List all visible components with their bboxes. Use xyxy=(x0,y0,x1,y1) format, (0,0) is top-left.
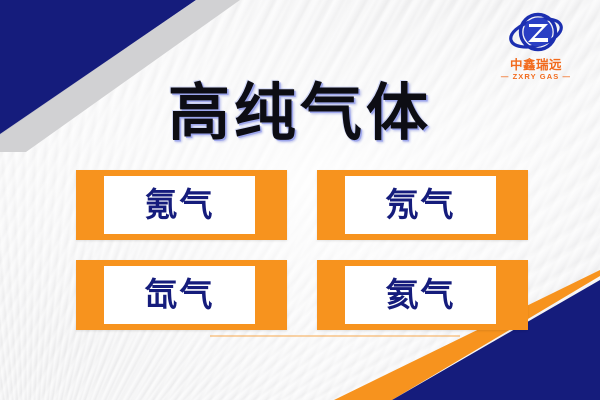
product-card-inner: 氪气 xyxy=(104,176,255,234)
product-card-inner: 氖气 xyxy=(345,176,496,234)
product-card-neon[interactable]: 氖气 xyxy=(317,170,528,240)
poster-canvas: 中鑫瑞远 — ZXRY GAS — 高纯气体 氪气 氖气 氙气 氦气 xyxy=(0,0,600,400)
z-circle-icon xyxy=(509,8,563,58)
product-label: 氙气 xyxy=(145,277,215,313)
product-grid: 氪气 氖气 氙气 氦气 xyxy=(76,170,528,330)
brand-logo: 中鑫瑞远 — ZXRY GAS — xyxy=(484,8,588,84)
product-label: 氖气 xyxy=(386,187,456,223)
product-card-inner: 氙气 xyxy=(104,266,255,324)
product-label: 氦气 xyxy=(386,277,456,313)
bottom-accent-line xyxy=(210,335,460,337)
page-title: 高纯气体 xyxy=(0,76,600,150)
product-card-helium[interactable]: 氦气 xyxy=(317,260,528,330)
product-card-inner: 氦气 xyxy=(345,266,496,324)
logo-company-name-cn: 中鑫瑞远 xyxy=(484,59,588,72)
product-label: 氪气 xyxy=(145,187,215,223)
product-card-xenon[interactable]: 氙气 xyxy=(76,260,287,330)
product-card-krypton[interactable]: 氪气 xyxy=(76,170,287,240)
